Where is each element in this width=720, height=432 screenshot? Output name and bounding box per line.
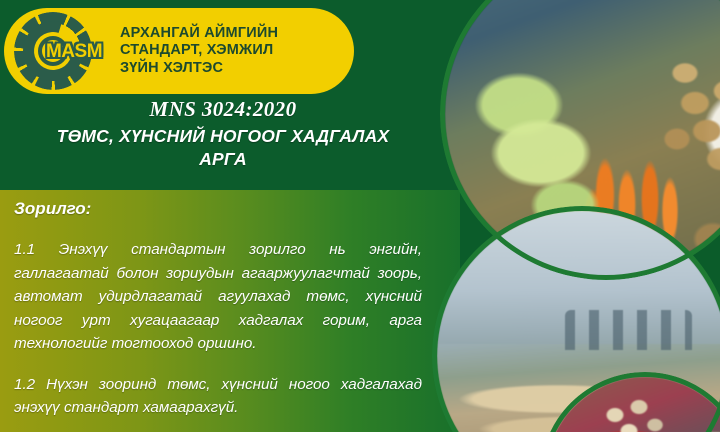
- masm-logo-icon: MASM: [12, 10, 94, 92]
- standard-title: ТӨМС, ХҮНСНИЙ НОГООГ ХАДГАЛАХ АРГА: [8, 125, 438, 171]
- presentation-slide: MASM АРХАНГАЙ АЙМГИЙН СТАНДАРТ, ХЭМЖИЛ З…: [0, 0, 720, 432]
- standard-title-line-1: ТӨМС, ХҮНСНИЙ НОГООГ ХАДГАЛАХ: [8, 125, 438, 148]
- purpose-paragraph-1-1: 1.1 Энэхүү стандартын зорилго нь энгийн,…: [14, 238, 422, 356]
- logo-wordmark: MASM: [30, 41, 118, 63]
- org-name-line-3: ЗҮЙН ХЭЛТЭС: [120, 60, 278, 78]
- ventilation-fans: [565, 310, 693, 351]
- slide-body-text: Зорилго: 1.1 Энэхүү стандартын зорилго н…: [14, 198, 422, 420]
- purpose-paragraph-1-2: 1.2 Нүхэн зооринд төмс, хүнсний ногоо ха…: [14, 373, 422, 420]
- standard-title-line-2: АРГА: [8, 148, 438, 171]
- org-name-line-2: СТАНДАРТ, ХЭМЖИЛ: [120, 42, 278, 60]
- slide-title-block: MNS 3024:2020 ТӨМС, ХҮНСНИЙ НОГООГ ХАДГА…: [8, 97, 438, 171]
- standard-code: MNS 3024:2020: [8, 97, 438, 121]
- organization-name: АРХАНГАЙ АЙМГИЙН СТАНДАРТ, ХЭМЖИЛ ЗҮЙН Х…: [120, 25, 278, 78]
- purpose-heading: Зорилго:: [14, 198, 422, 220]
- org-name-line-1: АРХАНГАЙ АЙМГИЙН: [120, 25, 278, 43]
- organization-logo-banner: MASM АРХАНГАЙ АЙМГИЙН СТАНДАРТ, ХЭМЖИЛ З…: [4, 8, 354, 94]
